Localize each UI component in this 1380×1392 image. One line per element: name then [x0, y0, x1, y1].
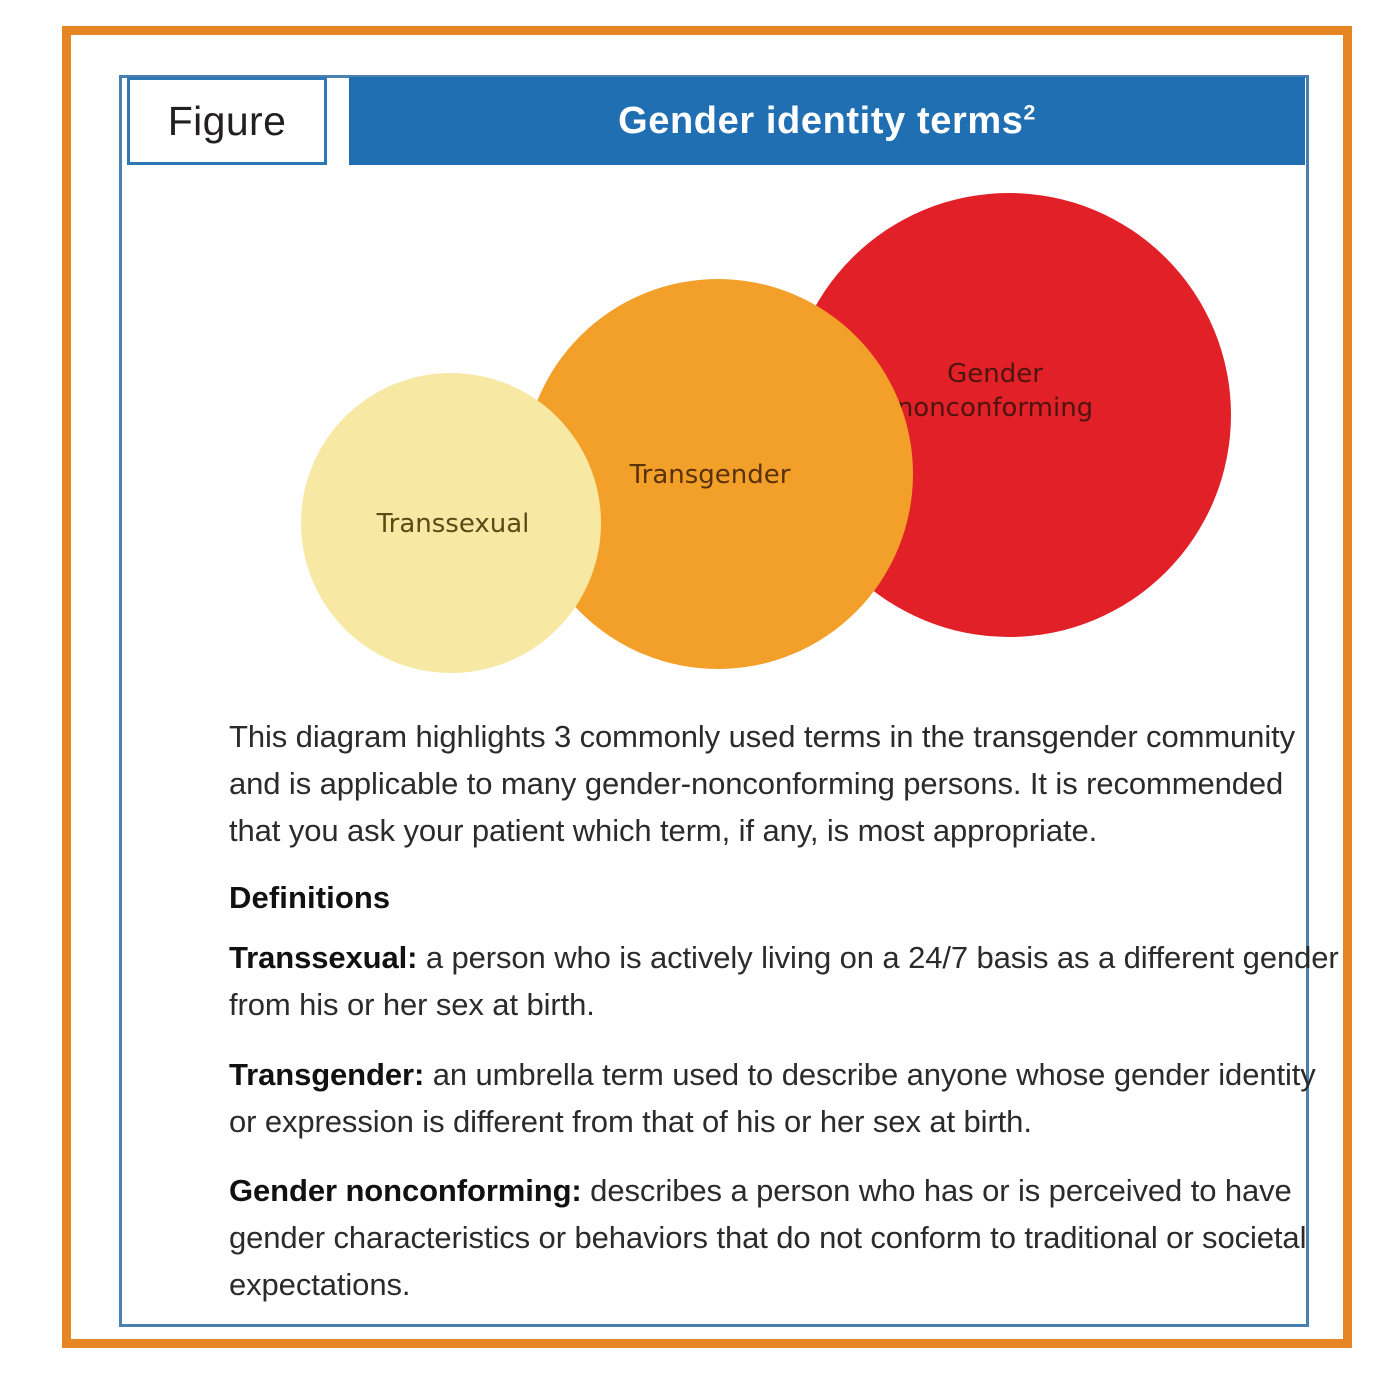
venn-diagram: Gendernonconforming Transgender Transsex… [71, 175, 1361, 715]
figure-tag-box: Figure [127, 77, 327, 165]
definition-transsexual: Transsexual: a person who is actively li… [229, 934, 1339, 1028]
definition-transgender: Transgender: an umbrella term used to de… [229, 1051, 1339, 1145]
venn-label-gender-nonconforming: Gendernonconforming [897, 357, 1093, 426]
definition-term-gender-nonconforming: Gender nonconforming: [229, 1173, 582, 1208]
figure-title-text: Gender identity terms [618, 100, 1023, 142]
definition-gender-nonconforming: Gender nonconforming: describes a person… [229, 1167, 1339, 1308]
definition-term-transgender: Transgender: [229, 1057, 424, 1092]
figure-title-bar: Gender identity terms2 [349, 77, 1305, 165]
figure-intro-paragraph: This diagram highlights 3 commonly used … [229, 713, 1339, 854]
figure-body: This diagram highlights 3 commonly used … [229, 713, 1339, 1330]
venn-label-transsexual: Transsexual [377, 507, 530, 541]
figure-title-superscript: 2 [1023, 100, 1035, 124]
figure-header: Figure Gender identity terms2 [127, 77, 1305, 169]
figure-outer-frame: Figure Gender identity terms2 Gendernonc… [62, 26, 1352, 1348]
definition-term-transsexual: Transsexual: [229, 940, 417, 975]
figure-title: Gender identity terms2 [618, 100, 1036, 143]
venn-label-transgender: Transgender [630, 458, 791, 492]
venn-label-gender-nonconforming-line1: Gender [947, 359, 1043, 389]
definitions-heading: Definitions [229, 880, 1339, 916]
venn-circle-transsexual: Transsexual [301, 373, 601, 673]
venn-label-gender-nonconforming-line2: nonconforming [897, 393, 1093, 423]
figure-tag-label: Figure [168, 98, 287, 145]
